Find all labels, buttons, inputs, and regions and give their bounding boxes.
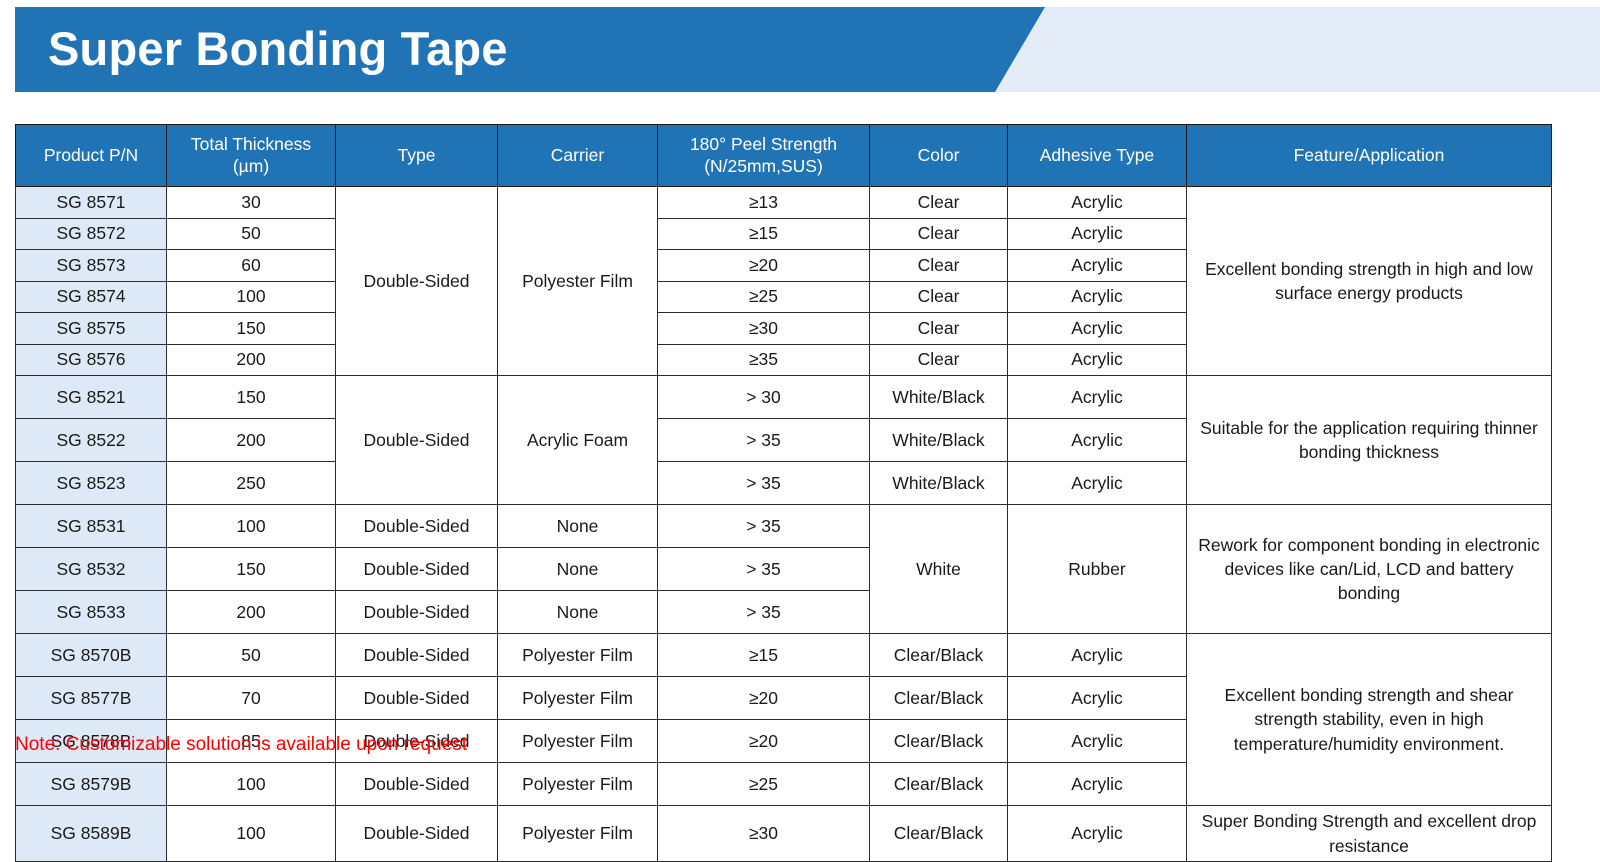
cell-adhesive: Rubber — [1008, 505, 1187, 634]
cell-peel: ≥30 — [658, 806, 870, 862]
cell-adhesive: Acrylic — [1008, 419, 1187, 462]
cell-thickness: 100 — [167, 281, 336, 313]
cell-product-pn: SG 8572 — [16, 218, 167, 250]
cell-thickness: 250 — [167, 462, 336, 505]
cell-color: White/Black — [870, 419, 1008, 462]
customization-note: Note: Customizable solution is available… — [15, 734, 467, 756]
col-header-text-line2: (µm) — [233, 156, 269, 176]
cell-thickness: 200 — [167, 591, 336, 634]
cell-color: Clear/Black — [870, 677, 1008, 720]
cell-feature: Super Bonding Strength and excellent dro… — [1187, 806, 1552, 862]
cell-carrier: Polyester Film — [498, 763, 658, 806]
cell-color: Clear — [870, 250, 1008, 282]
table-header-row: Product P/N Total Thickness (µm) Type Ca… — [16, 125, 1552, 187]
cell-peel: ≥20 — [658, 720, 870, 763]
table-row: SG 8571 30 Double-Sided Polyester Film ≥… — [16, 187, 1552, 219]
cell-product-pn: SG 8521 — [16, 376, 167, 419]
cell-adhesive: Acrylic — [1008, 344, 1187, 376]
cell-thickness: 30 — [167, 187, 336, 219]
cell-color: White/Black — [870, 376, 1008, 419]
cell-thickness: 100 — [167, 505, 336, 548]
cell-feature: Excellent bonding strength and shear str… — [1187, 634, 1552, 806]
cell-color: Clear/Black — [870, 806, 1008, 862]
cell-product-pn: SG 8576 — [16, 344, 167, 376]
col-header-feature-application: Feature/Application — [1187, 125, 1552, 187]
cell-peel: > 35 — [658, 505, 870, 548]
col-header-text: Type — [398, 145, 436, 165]
cell-color: Clear — [870, 218, 1008, 250]
cell-type: Double-Sided — [336, 677, 498, 720]
cell-thickness: 60 — [167, 250, 336, 282]
cell-type: Double-Sided — [336, 505, 498, 548]
cell-thickness: 150 — [167, 313, 336, 345]
cell-adhesive: Acrylic — [1008, 281, 1187, 313]
col-header-adhesive-type: Adhesive Type — [1008, 125, 1187, 187]
cell-peel: > 35 — [658, 419, 870, 462]
cell-peel: ≥15 — [658, 634, 870, 677]
cell-feature: Rework for component bonding in electron… — [1187, 505, 1552, 634]
cell-carrier: None — [498, 591, 658, 634]
cell-color: White — [870, 505, 1008, 634]
col-header-total-thickness: Total Thickness (µm) — [167, 125, 336, 187]
cell-adhesive: Acrylic — [1008, 376, 1187, 419]
cell-adhesive: Acrylic — [1008, 313, 1187, 345]
cell-thickness: 100 — [167, 763, 336, 806]
cell-product-pn: SG 8574 — [16, 281, 167, 313]
cell-peel: ≥25 — [658, 281, 870, 313]
cell-peel: ≥25 — [658, 763, 870, 806]
col-header-product-pn: Product P/N — [16, 125, 167, 187]
cell-carrier: None — [498, 505, 658, 548]
cell-product-pn: SG 8570B — [16, 634, 167, 677]
cell-carrier: None — [498, 548, 658, 591]
cell-peel: > 35 — [658, 462, 870, 505]
cell-peel: > 35 — [658, 548, 870, 591]
cell-type: Double-Sided — [336, 376, 498, 505]
cell-thickness: 50 — [167, 218, 336, 250]
cell-carrier: Polyester Film — [498, 806, 658, 862]
col-header-text: Feature/Application — [1294, 145, 1445, 165]
cell-product-pn: SG 8571 — [16, 187, 167, 219]
cell-type: Double-Sided — [336, 634, 498, 677]
col-header-color: Color — [870, 125, 1008, 187]
cell-carrier: Polyester Film — [498, 677, 658, 720]
cell-peel: ≥20 — [658, 250, 870, 282]
page-title: Super Bonding Tape — [48, 7, 508, 92]
cell-color: White/Black — [870, 462, 1008, 505]
cell-product-pn: SG 8575 — [16, 313, 167, 345]
cell-color: Clear — [870, 313, 1008, 345]
cell-adhesive: Acrylic — [1008, 218, 1187, 250]
cell-type: Double-Sided — [336, 548, 498, 591]
cell-type: Double-Sided — [336, 591, 498, 634]
cell-peel: > 30 — [658, 376, 870, 419]
cell-product-pn: SG 8589B — [16, 806, 167, 862]
cell-thickness: 50 — [167, 634, 336, 677]
cell-color: Clear — [870, 344, 1008, 376]
cell-carrier: Acrylic Foam — [498, 376, 658, 505]
cell-adhesive: Acrylic — [1008, 462, 1187, 505]
cell-thickness: 150 — [167, 376, 336, 419]
cell-thickness: 200 — [167, 419, 336, 462]
col-header-text-line1: 180° Peel Strength — [690, 134, 837, 154]
cell-feature: Suitable for the application requiring t… — [1187, 376, 1552, 505]
cell-thickness: 100 — [167, 806, 336, 862]
table-row: SG 8589B 100 Double-Sided Polyester Film… — [16, 806, 1552, 862]
cell-carrier: Polyester Film — [498, 187, 658, 376]
cell-color: Clear — [870, 187, 1008, 219]
cell-adhesive: Acrylic — [1008, 720, 1187, 763]
cell-peel: ≥20 — [658, 677, 870, 720]
cell-product-pn: SG 8573 — [16, 250, 167, 282]
col-header-carrier: Carrier — [498, 125, 658, 187]
cell-product-pn: SG 8531 — [16, 505, 167, 548]
cell-product-pn: SG 8577B — [16, 677, 167, 720]
col-header-text-line1: Total Thickness — [191, 134, 311, 154]
cell-peel: > 35 — [658, 591, 870, 634]
col-header-text: Product P/N — [44, 145, 138, 165]
cell-type: Double-Sided — [336, 806, 498, 862]
cell-peel: ≥35 — [658, 344, 870, 376]
cell-product-pn: SG 8523 — [16, 462, 167, 505]
cell-thickness: 200 — [167, 344, 336, 376]
cell-color: Clear/Black — [870, 634, 1008, 677]
col-header-type: Type — [336, 125, 498, 187]
cell-adhesive: Acrylic — [1008, 763, 1187, 806]
page-banner: Super Bonding Tape — [0, 7, 1600, 92]
cell-product-pn: SG 8522 — [16, 419, 167, 462]
cell-peel: ≥13 — [658, 187, 870, 219]
col-header-text: Adhesive Type — [1040, 145, 1154, 165]
col-header-text-line2: (N/25mm,SUS) — [704, 156, 823, 176]
col-header-text: Color — [918, 145, 960, 165]
cell-thickness: 70 — [167, 677, 336, 720]
cell-product-pn: SG 8579B — [16, 763, 167, 806]
table-body: SG 8571 30 Double-Sided Polyester Film ≥… — [16, 187, 1552, 862]
cell-adhesive: Acrylic — [1008, 250, 1187, 282]
cell-adhesive: Acrylic — [1008, 677, 1187, 720]
cell-feature: Excellent bonding strength in high and l… — [1187, 187, 1552, 376]
table-row: SG 8531 100 Double-Sided None > 35 White… — [16, 505, 1552, 548]
table-row: SG 8521 150 Double-Sided Acrylic Foam > … — [16, 376, 1552, 419]
cell-peel: ≥30 — [658, 313, 870, 345]
cell-adhesive: Acrylic — [1008, 806, 1187, 862]
col-header-text: Carrier — [551, 145, 604, 165]
cell-color: Clear/Black — [870, 720, 1008, 763]
table-row: SG 8570B 50 Double-Sided Polyester Film … — [16, 634, 1552, 677]
cell-color: Clear — [870, 281, 1008, 313]
cell-product-pn: SG 8533 — [16, 591, 167, 634]
cell-product-pn: SG 8532 — [16, 548, 167, 591]
cell-type: Double-Sided — [336, 763, 498, 806]
cell-carrier: Polyester Film — [498, 720, 658, 763]
cell-peel: ≥15 — [658, 218, 870, 250]
cell-adhesive: Acrylic — [1008, 634, 1187, 677]
col-header-peel-strength: 180° Peel Strength (N/25mm,SUS) — [658, 125, 870, 187]
cell-thickness: 150 — [167, 548, 336, 591]
cell-color: Clear/Black — [870, 763, 1008, 806]
cell-carrier: Polyester Film — [498, 634, 658, 677]
cell-adhesive: Acrylic — [1008, 187, 1187, 219]
cell-type: Double-Sided — [336, 187, 498, 376]
